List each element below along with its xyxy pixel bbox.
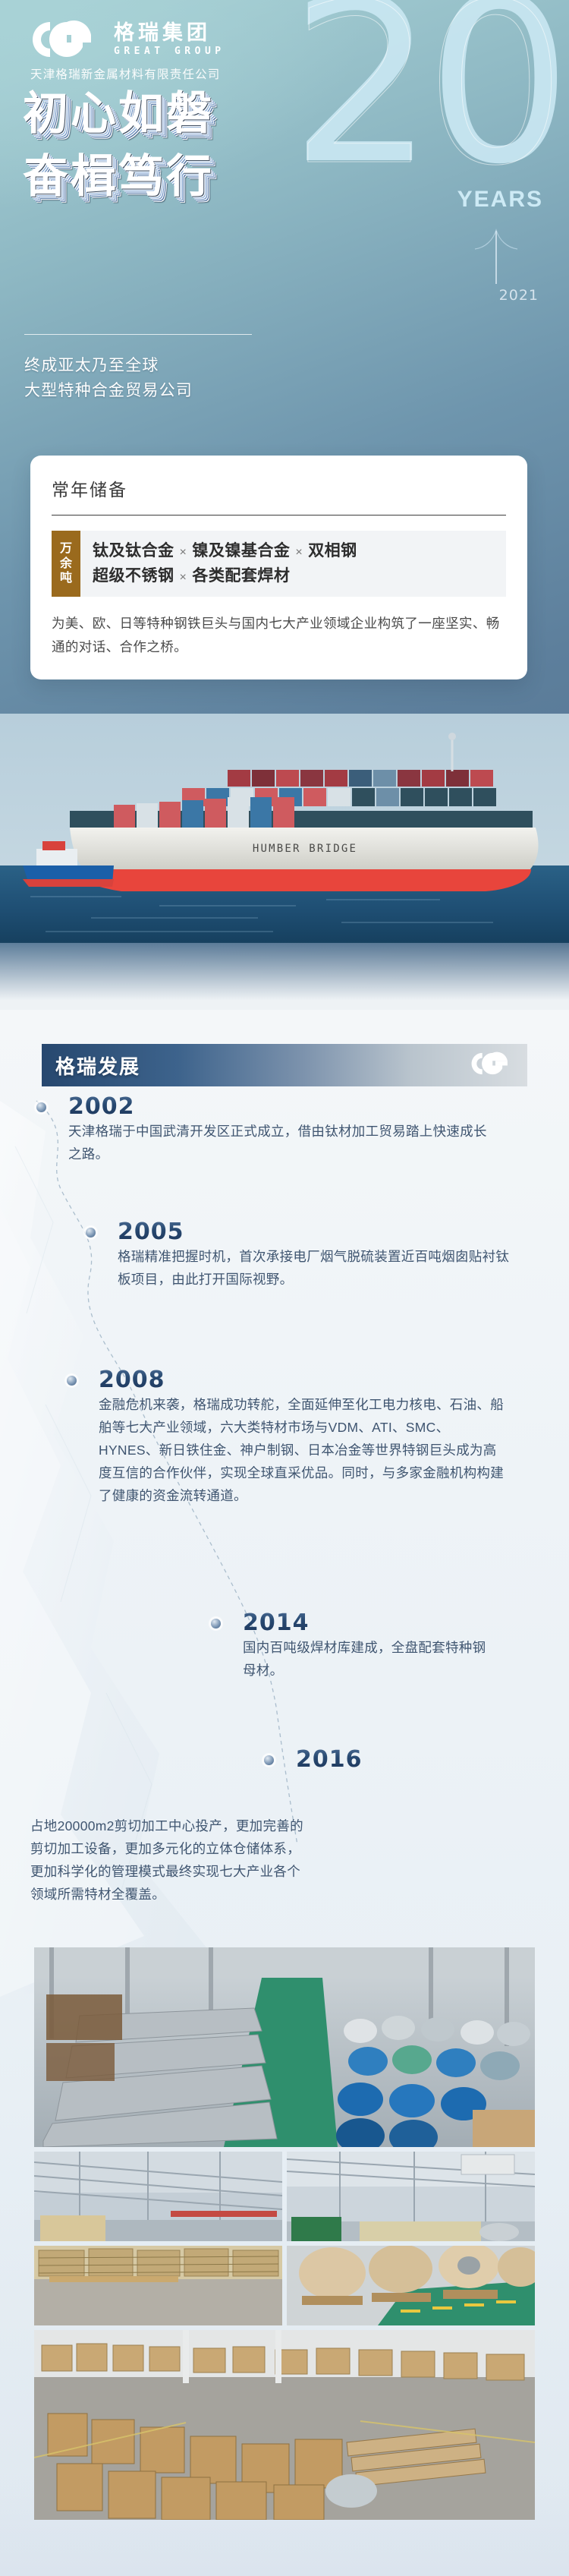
card-title: 常年储备 — [52, 475, 506, 501]
spec-separator-icon: × — [290, 546, 308, 559]
timeline-year: 2002 — [68, 1093, 135, 1120]
timeline-item: 2002 天津格瑞于中国武清开发区正式成立，借由钛材加工贸易踏上快速成长之路。 — [68, 1093, 493, 1165]
cg-logo-icon — [468, 1052, 515, 1080]
timeline-text: 天津格瑞于中国武清开发区正式成立，借由钛材加工贸易踏上快速成长之路。 — [68, 1120, 493, 1165]
spec-separator-icon: × — [174, 546, 193, 559]
badge-char-1: 万 — [60, 541, 72, 557]
section-title: 格瑞发展 — [55, 1052, 140, 1080]
spec-item: 钛及钛合金 — [93, 542, 174, 560]
card-divider — [52, 515, 506, 516]
timeline-year: 2008 — [99, 1367, 165, 1393]
up-arrow-icon — [473, 226, 519, 289]
badge-char-2: 余 — [60, 557, 72, 572]
pallet-storage-photo — [34, 2246, 282, 2325]
timeline-item: 2016 — [296, 1746, 523, 1773]
spec-row: 钛及钛合金×镍及镍基合金×双相钢 — [93, 539, 357, 564]
ship-photo: HUMBER BRIDGE — [0, 714, 569, 943]
timeline-text: 国内百吨级焊材库建成，全盘配套特种钢母材。 — [243, 1636, 493, 1682]
card-description: 为美、欧、日等特种钢铁巨头与国内七大产业领域企业构筑了一座坚实、畅通的对话、合作… — [52, 612, 506, 658]
hero-subtitle: 终成亚太乃至全球 大型特种合金贸易公司 — [24, 354, 193, 403]
spec-item: 双相钢 — [308, 542, 357, 560]
spec-list: 钛及钛合金×镍及镍基合金×双相钢 超级不锈钢×各类配套焊材 — [80, 531, 357, 597]
reserve-card: 常年储备 万 余 吨 钛及钛合金×镍及镍基合金×双相钢 超级不锈钢×各类配套焊材… — [30, 456, 527, 679]
development-section: 格瑞发展 2002 天津格瑞于中国武清开发区正式成立，借由钛材加工贸易踏上快速成… — [0, 1010, 569, 2576]
timeline-dot-icon — [264, 1755, 274, 1765]
timeline-dot-icon — [67, 1376, 77, 1386]
anniversary-number-outline: 20 — [291, 0, 558, 196]
photo-row — [34, 2246, 535, 2325]
page-root: 20 20 YEARS 2021 格瑞集团 GREAT GROUP — [0, 0, 569, 2576]
workshop-interior-photo — [34, 2152, 282, 2241]
hero-subtitle-line-2: 大型特种合金贸易公司 — [24, 379, 193, 404]
anniversary-year: 2021 — [499, 287, 539, 304]
spec-block: 万 余 吨 钛及钛合金×镍及镍基合金×双相钢 超级不锈钢×各类配套焊材 — [52, 531, 506, 597]
company-legal-name: 天津格瑞新金属材料有限责任公司 — [30, 65, 221, 82]
timeline-item: 2008 金融危机来袭，格瑞成功转舵，全面延伸至化工电力核电、石油、船舶等七大产… — [99, 1367, 508, 1507]
timeline-year: 2005 — [118, 1219, 184, 1245]
timeline-dot-icon — [211, 1619, 221, 1629]
timeline-text: 金融危机来袭，格瑞成功转舵，全面延伸至化工电力核电、石油、船舶等七大产业领域，六… — [99, 1393, 508, 1507]
svg-text:HUMBER BRIDGE: HUMBER BRIDGE — [253, 843, 357, 855]
timeline-text: 格瑞精准把握时机，首次承接电厂烟气脱硫装置近百吨烟囱贴衬钛板项目，由此打开国际视… — [118, 1245, 512, 1291]
spec-separator-icon: × — [174, 571, 193, 584]
photo-gallery — [34, 1947, 535, 2520]
spec-item: 各类配套焊材 — [192, 567, 290, 585]
crate-warehouse-photo — [34, 2330, 535, 2520]
badge-char-3: 吨 — [60, 571, 72, 586]
timeline-item: 2014 国内百吨级焊材库建成，全盘配套特种钢母材。 — [243, 1610, 493, 1682]
timeline-item: 2005 格瑞精准把握时机，首次承接电厂烟气脱硫装置近百吨烟囱贴衬钛板项目，由此… — [118, 1219, 512, 1291]
spec-item: 镍及镍基合金 — [192, 542, 290, 560]
timeline-dot-icon — [36, 1102, 46, 1112]
section-banner: 格瑞发展 — [42, 1044, 527, 1086]
photo-row — [34, 2152, 535, 2241]
processing-hall-photo — [287, 2152, 535, 2241]
hero-slogan: 初心如磐 奋楫笃行 — [23, 90, 214, 202]
brand-logo: 格瑞集团 GREAT GROUP — [27, 20, 225, 59]
hero-divider — [24, 334, 252, 335]
brand-wordmark: 格瑞集团 GREAT GROUP — [114, 22, 225, 57]
hero-subtitle-line-1: 终成亚太乃至全球 — [24, 354, 193, 379]
timeline-dot-icon — [86, 1228, 96, 1238]
spec-row: 超级不锈钢×各类配套焊材 — [93, 564, 357, 589]
brand-name-cn: 格瑞集团 — [114, 21, 211, 44]
coil-storage-photo — [287, 2246, 535, 2325]
hero-bottom-fade — [0, 941, 569, 1010]
warehouse-sheet-and-coil-photo — [34, 1947, 535, 2147]
anniversary-label: YEARS — [457, 187, 543, 213]
cg-logo-icon — [27, 20, 103, 59]
brand-name-en: GREAT GROUP — [114, 46, 225, 57]
timeline-text: 占地20000m2剪切加工中心投产，更加完善的剪切加工设备，更加多元化的立体仓储… — [30, 1815, 303, 1906]
quantity-badge: 万 余 吨 — [52, 531, 80, 597]
slogan-line-1: 初心如磐 — [23, 90, 214, 139]
spec-item: 超级不锈钢 — [93, 567, 174, 585]
timeline-year: 2014 — [243, 1610, 310, 1636]
timeline-year: 2016 — [296, 1746, 363, 1773]
slogan-line-2: 奋楫笃行 — [23, 153, 214, 202]
